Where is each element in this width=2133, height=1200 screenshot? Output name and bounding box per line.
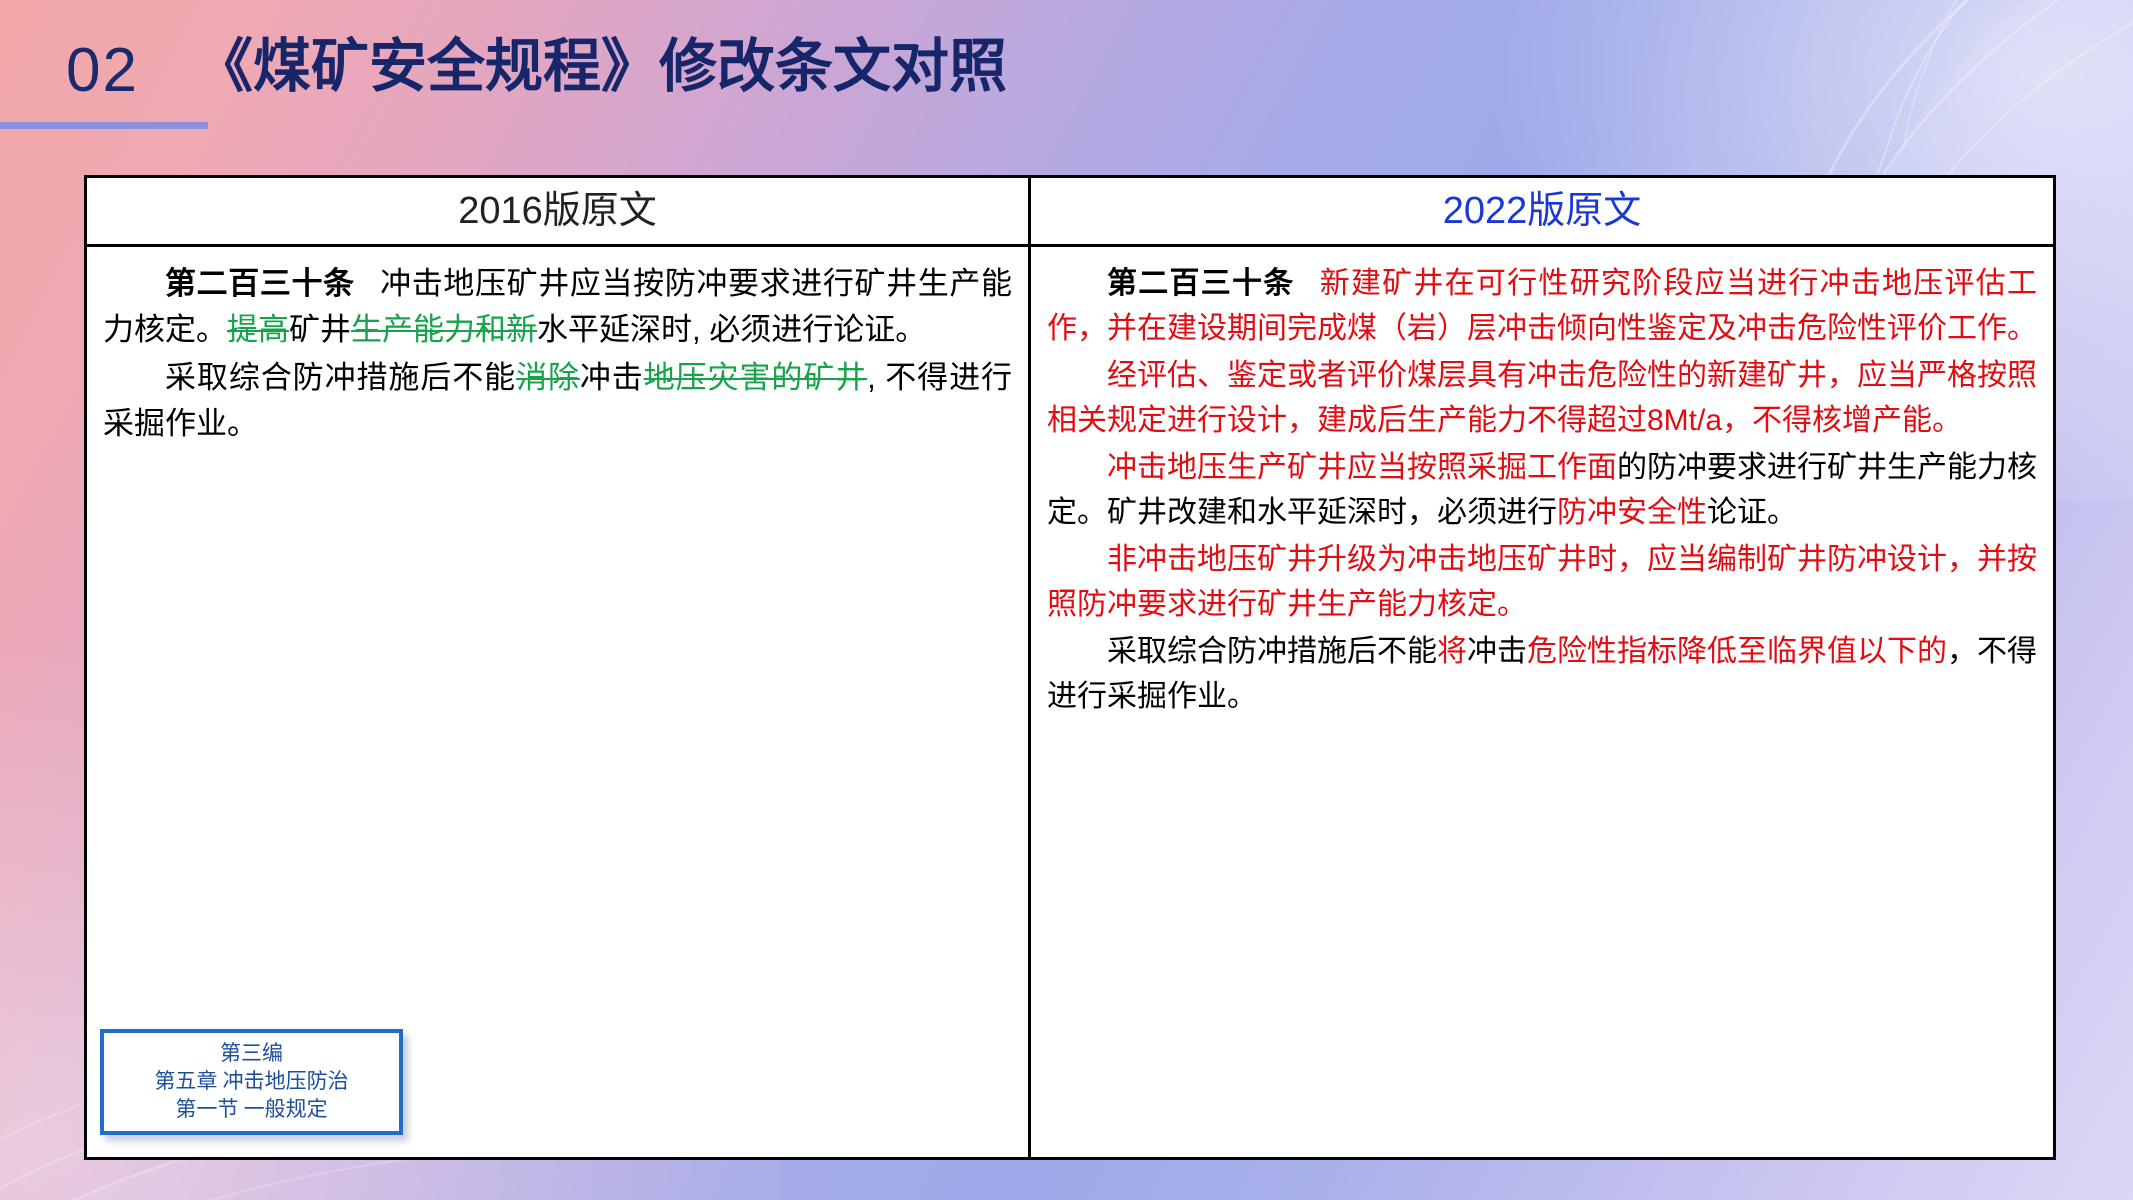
paragraph: 经评估、鉴定或者评价煤层具有冲击危险性的新建矿井，应当严格按照相关规定进行设计，… [1047,353,2037,443]
text-run-normal: 必须进行论证。 [709,312,926,347]
table-body-row: 第二百三十条冲击地压矿井应当按防冲要求进行矿井生产能力核定。提高矿井生产能力和新… [87,247,2053,1157]
text-run-deleted: 地压灾害的矿井 [644,360,867,395]
text-run-normal: 采取综合防冲措施后不能 [1107,635,1437,668]
text-run-inserted: 防冲安全性 [1557,496,1707,529]
text-run-normal: 冲击 [1467,635,1527,668]
slide-header: 02 《煤矿安全规程》修改条文对照 [0,0,2133,150]
text-run-inserted: 非冲击地压矿井升级为冲击地压矿井时，应当编制矿井防冲设计，并按照防冲要求进行矿井… [1047,543,2037,621]
text-run-normal: , [692,312,709,347]
comparison-table: 2016版原文 2022版原文 第二百三十条冲击地压矿井应当按防冲要求进行矿井生… [84,175,2056,1160]
text-run-deleted: 消除 [516,360,580,395]
text-run-normal: 采取综合防冲措施后不能 [165,360,516,395]
text-run-normal: 冲击 [580,360,644,395]
text-run-normal: 论证。 [1707,496,1797,529]
text-run-normal: 水平延深时 [537,312,692,347]
paragraph: 第二百三十条新建矿井在可行性研究阶段应当进行冲击地压评估工作，并在建设期间完成煤… [1047,261,2037,351]
header-underline-rule [0,122,208,129]
table-cell-2022-text: 第二百三十条新建矿井在可行性研究阶段应当进行冲击地压评估工作，并在建设期间完成煤… [1028,247,2053,1157]
text-run-bold: 第二百三十条 [1107,267,1294,300]
page-title: 《煤矿安全规程》修改条文对照 [195,35,1007,99]
text-run-normal: 矿井 [289,312,351,347]
paragraph: 采取综合防冲措施后不能消除冲击地压灾害的矿井, 不得进行采掘作业。 [103,355,1012,447]
text-run-deleted: 生产能力和新 [351,312,537,347]
column-header-2022: 2022版原文 [1028,178,2053,244]
paragraph: 第二百三十条冲击地压矿井应当按防冲要求进行矿井生产能力核定。提高矿井生产能力和新… [103,261,1012,353]
table-header-row: 2016版原文 2022版原文 [87,178,2053,247]
text-run-bold: 第二百三十条 [165,266,355,301]
slide-canvas: 02 《煤矿安全规程》修改条文对照 2016版原文 2022版原文 第二百三十条… [0,0,2133,1200]
paragraph: 采取综合防冲措施后不能将冲击危险性指标降低至临界值以下的，不得进行采掘作业。 [1047,629,2037,719]
chapter-badge-line-1: 第三编 [220,1040,283,1068]
paragraph: 冲击地压生产矿井应当按照采掘工作面的防冲要求进行矿井生产能力核定。矿井改建和水平… [1047,445,2037,535]
text-run-inserted: 危险性指标降低至临界值以下的 [1527,635,1947,668]
column-header-2016: 2016版原文 [87,178,1028,244]
table-cell-2016-text: 第二百三十条冲击地压矿井应当按防冲要求进行矿井生产能力核定。提高矿井生产能力和新… [87,247,1028,1157]
chapter-badge-line-3: 第一节 一般规定 [175,1096,327,1124]
slide-number: 02 [66,40,139,102]
text-run-deleted: 提高 [227,312,289,347]
text-run-inserted: 将 [1437,635,1467,668]
text-run-inserted: 冲击地压生产矿井应当按照采掘工作面 [1107,451,1617,484]
chapter-reference-badge: 第三编 第五章 冲击地压防治 第一节 一般规定 [100,1029,403,1135]
chapter-badge-line-2: 第五章 冲击地压防治 [154,1068,348,1096]
paragraph: 非冲击地压矿井升级为冲击地压矿井时，应当编制矿井防冲设计，并按照防冲要求进行矿井… [1047,537,2037,627]
text-run-inserted: 经评估、鉴定或者评价煤层具有冲击危险性的新建矿井，应当严格按照相关规定进行设计，… [1047,359,2037,437]
